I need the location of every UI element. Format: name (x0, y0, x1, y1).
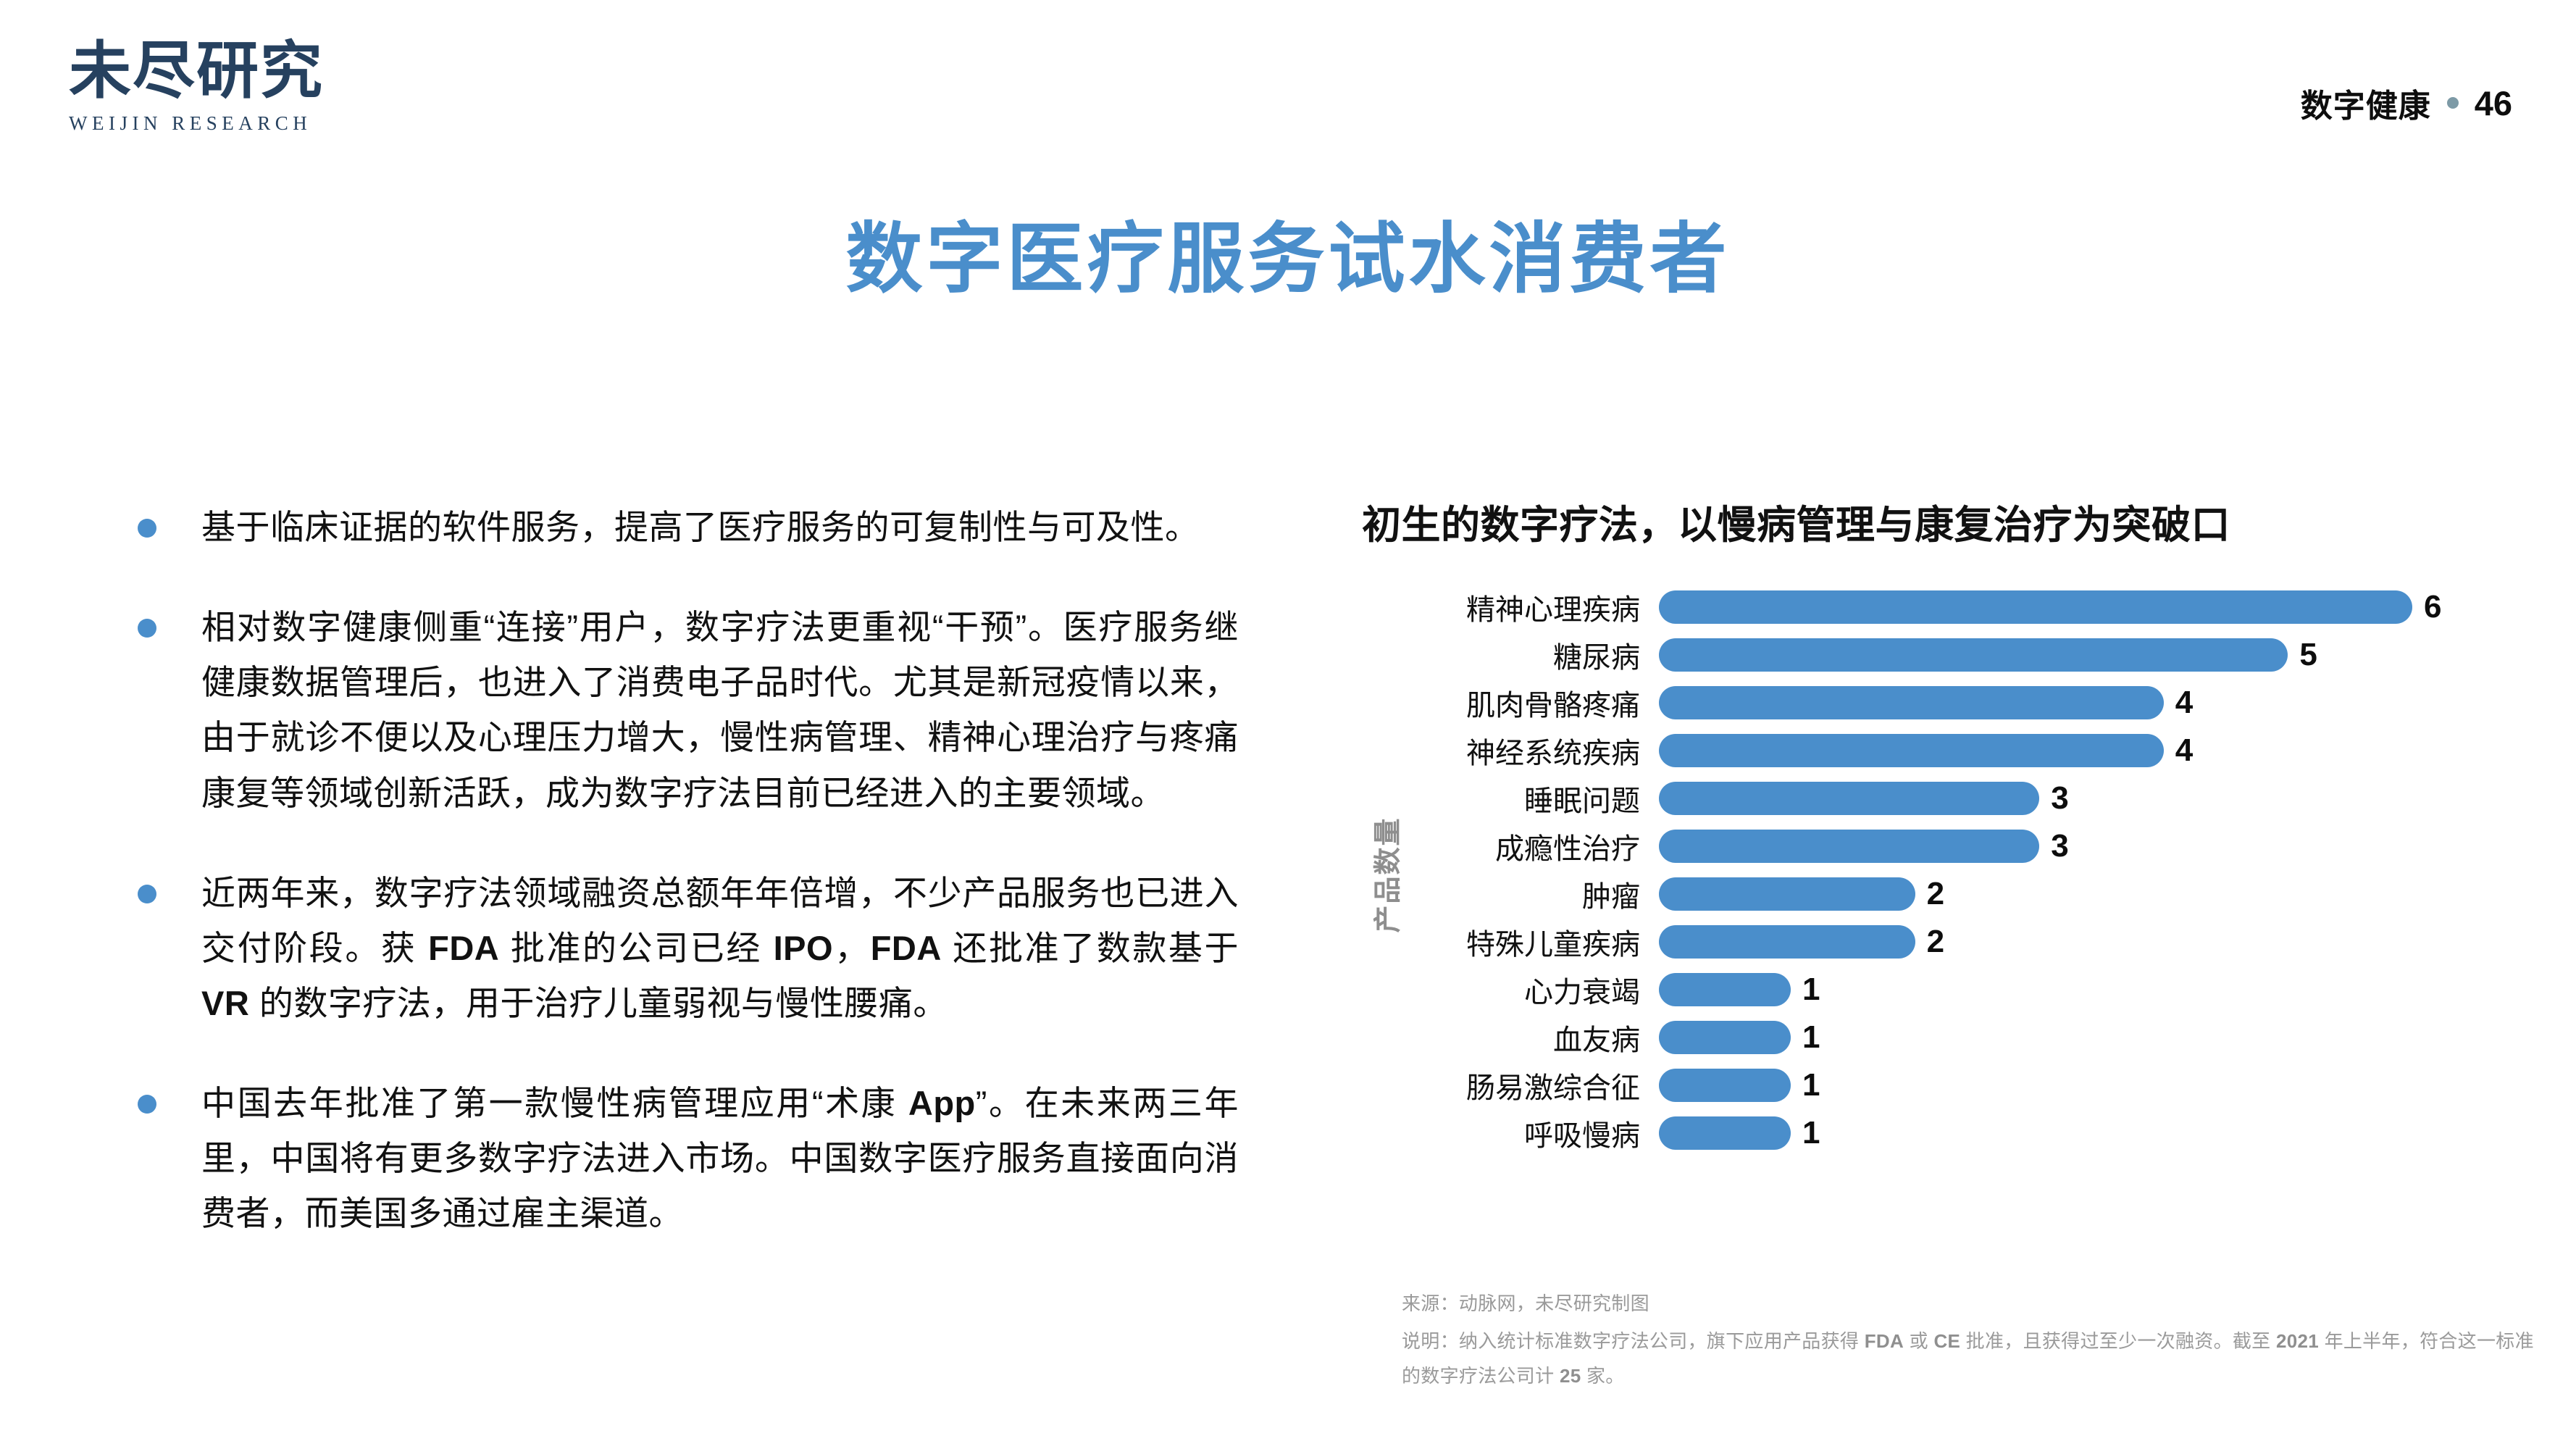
bar-value-label: 5 (2299, 637, 2317, 673)
y-axis-label-text: 产品数量 (1366, 817, 1405, 932)
bar-value-label: 4 (2175, 685, 2193, 721)
page-header: 未尽研究 WEIJIN RESEARCH 数字健康 46 (0, 0, 2576, 188)
list-item-text: 近两年来，数字疗法领域融资总额年年倍增，不少产品服务也已进入交付阶段。获 FDA… (201, 866, 1239, 1031)
bar-row: 特殊儿童疾病2 (1408, 922, 2521, 961)
bullet-dot-icon (138, 1095, 156, 1114)
bar-track: 1 (1659, 1114, 2521, 1153)
bar-row: 肿瘤2 (1408, 874, 2521, 914)
bar-track: 2 (1659, 874, 2521, 914)
chart-title: 初生的数字疗法，以慢病管理与康复治疗为突破口 (1362, 493, 2521, 550)
bar-category-label: 血友病 (1408, 1016, 1659, 1058)
footnote-note: 说明：纳入统计标准数字疗法公司，旗下应用产品获得 FDA 或 CE 批准，且获得… (1402, 1324, 2539, 1393)
page-title: 数字医疗服务试水消费者 (0, 217, 2576, 302)
bar-track: 1 (1659, 1018, 2521, 1057)
bar-fill (1659, 925, 1915, 959)
bar-fill (1659, 590, 2412, 624)
bar-fill (1659, 782, 2039, 815)
bar-value-label: 1 (1802, 1019, 1820, 1056)
bar-fill (1659, 1116, 1791, 1150)
y-axis-label: 产品数量 (1362, 588, 1408, 1161)
footnote-source: 来源：动脉网，未尽研究制图 (1402, 1286, 2539, 1321)
page-number: 46 (2475, 83, 2512, 123)
bar-row: 精神心理疾病6 (1408, 588, 2521, 627)
bar-track: 1 (1659, 1066, 2521, 1105)
bar-fill (1659, 973, 1791, 1006)
chart-footnotes: 来源：动脉网，未尽研究制图 说明：纳入统计标准数字疗法公司，旗下应用产品获得 F… (1402, 1286, 2539, 1396)
bullet-dot-icon (138, 885, 156, 903)
bar-track: 4 (1659, 731, 2521, 770)
header-breadcrumb: 数字健康 46 (2301, 80, 2512, 126)
bullet-dot-icon (138, 519, 156, 538)
bar-value-label: 1 (1802, 1067, 1820, 1103)
brand-logo-cn: 未尽研究 (69, 40, 373, 102)
bar-category-label: 精神心理疾病 (1408, 586, 1659, 628)
bar-category-label: 呼吸慢病 (1408, 1112, 1659, 1154)
bar-fill (1659, 638, 2288, 672)
bar-category-label: 糖尿病 (1408, 634, 1659, 676)
bar-fill (1659, 1069, 1791, 1102)
bar-row: 心力衰竭1 (1408, 970, 2521, 1009)
bar-category-label: 特殊儿童疾病 (1408, 921, 1659, 963)
bar-value-label: 1 (1802, 1115, 1820, 1151)
bar-chart: 产品数量 精神心理疾病6糖尿病5肌肉骨骼疼痛4神经系统疾病4睡眠问题3成瘾性治疗… (1362, 588, 2521, 1161)
bar-row: 呼吸慢病1 (1408, 1114, 2521, 1153)
bar-track: 5 (1659, 635, 2521, 675)
bar-value-label: 6 (2424, 589, 2441, 625)
bar-fill (1659, 1021, 1791, 1054)
bar-track: 3 (1659, 779, 2521, 818)
bar-value-label: 2 (1927, 924, 1944, 960)
bar-row: 神经系统疾病4 (1408, 731, 2521, 770)
list-item: 近两年来，数字疗法领域融资总额年年倍增，不少产品服务也已进入交付阶段。获 FDA… (138, 866, 1239, 1031)
bullet-dot-icon (138, 619, 156, 638)
bar-value-label: 3 (2051, 828, 2068, 864)
bar-value-label: 4 (2175, 732, 2193, 769)
list-item: 基于临床证据的软件服务，提高了医疗服务的可复制性与可及性。 (138, 500, 1239, 555)
bar-category-label: 肠易激综合征 (1408, 1064, 1659, 1106)
bar-rows: 精神心理疾病6糖尿病5肌肉骨骼疼痛4神经系统疾病4睡眠问题3成瘾性治疗3肿瘤2特… (1408, 588, 2521, 1161)
bar-fill (1659, 686, 2164, 719)
bar-value-label: 3 (2051, 780, 2068, 817)
bar-category-label: 肌肉骨骼疼痛 (1408, 682, 1659, 724)
bar-track: 1 (1659, 970, 2521, 1009)
bar-category-label: 睡眠问题 (1408, 777, 1659, 819)
brand-logo: 未尽研究 WEIJIN RESEARCH (69, 40, 373, 135)
bar-category-label: 肿瘤 (1408, 873, 1659, 915)
bar-value-label: 1 (1802, 972, 1820, 1008)
bar-row: 肠易激综合征1 (1408, 1066, 2521, 1105)
bar-row: 糖尿病5 (1408, 635, 2521, 675)
bar-value-label: 2 (1927, 876, 1944, 912)
bar-track: 2 (1659, 922, 2521, 961)
bullet-list: 基于临床证据的软件服务，提高了医疗服务的可复制性与可及性。 相对数字健康侧重“连… (138, 500, 1239, 1286)
bar-category-label: 神经系统疾病 (1408, 730, 1659, 772)
separator-dot-icon (2447, 97, 2459, 109)
bar-row: 成瘾性治疗3 (1408, 827, 2521, 866)
bar-fill (1659, 734, 2164, 767)
bar-track: 3 (1659, 827, 2521, 866)
bar-category-label: 成瘾性治疗 (1408, 825, 1659, 867)
list-item-text: 中国去年批准了第一款慢性病管理应用“术康 App”。在未来两三年里，中国将有更多… (201, 1076, 1239, 1241)
list-item-text: 相对数字健康侧重“连接”用户，数字疗法更重视“干预”。医疗服务继健康数据管理后，… (201, 600, 1239, 821)
list-item: 相对数字健康侧重“连接”用户，数字疗法更重视“干预”。医疗服务继健康数据管理后，… (138, 600, 1239, 821)
bar-row: 睡眠问题3 (1408, 779, 2521, 818)
bar-fill (1659, 830, 2039, 863)
header-section-label: 数字健康 (2301, 80, 2431, 126)
bar-row: 血友病1 (1408, 1018, 2521, 1057)
brand-logo-en: WEIJIN RESEARCH (69, 112, 373, 135)
bar-row: 肌肉骨骼疼痛4 (1408, 683, 2521, 722)
bar-fill (1659, 877, 1915, 911)
bar-track: 4 (1659, 683, 2521, 722)
list-item: 中国去年批准了第一款慢性病管理应用“术康 App”。在未来两三年里，中国将有更多… (138, 1076, 1239, 1241)
list-item-text: 基于临床证据的软件服务，提高了医疗服务的可复制性与可及性。 (201, 500, 1239, 555)
bar-category-label: 心力衰竭 (1408, 969, 1659, 1011)
bar-track: 6 (1659, 588, 2521, 627)
chart-panel: 初生的数字疗法，以慢病管理与康复治疗为突破口 产品数量 精神心理疾病6糖尿病5肌… (1362, 493, 2521, 1161)
